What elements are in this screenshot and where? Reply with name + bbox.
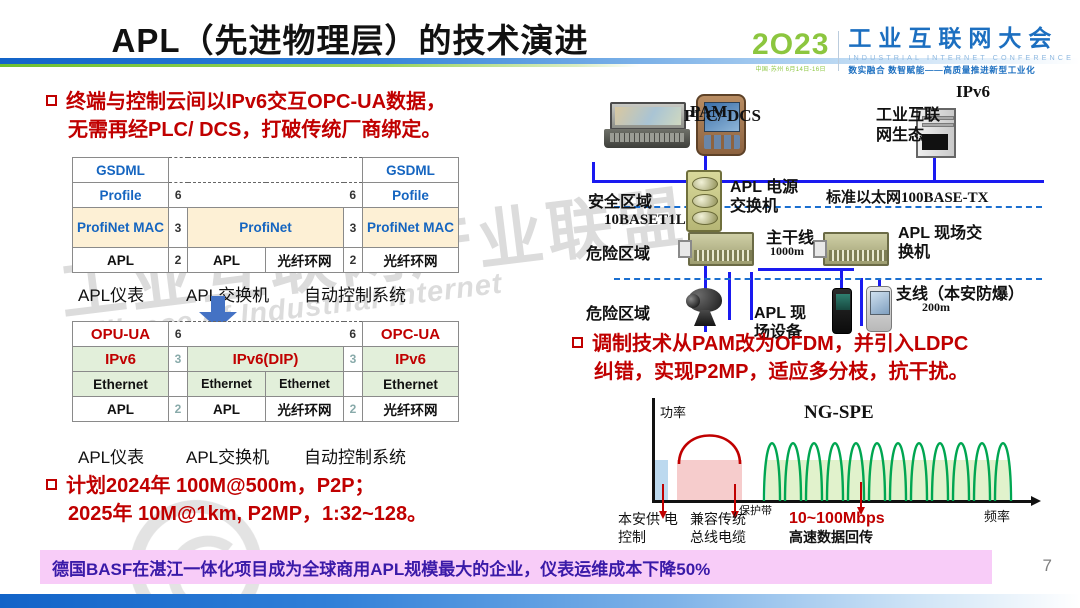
bullet-3-text-1: 计划2024年 100M@500m，P2P； (66, 475, 375, 497)
cell-right-num: 2 (344, 248, 363, 273)
chart-title: NG-SPE (804, 402, 874, 424)
logo-name-cn: 工业互联网大会 (848, 26, 1074, 50)
label-plc-dcs: PLC/ DCS (684, 106, 761, 125)
logo-year-sub: 中国·苏州 6月14日-16日 (756, 64, 826, 73)
logo-tagline: 数实融合 数智赋能——高质量推进新型工业化 (848, 64, 1074, 76)
ethernet-bus-line (592, 180, 1044, 183)
bullet-3-line-1: 计划2024年 100M@500m，P2P； (46, 472, 427, 500)
cell-left-num (169, 158, 188, 183)
page-title: APL（先进物理层）的技术演进 (0, 14, 700, 62)
cell-right-num (344, 372, 363, 397)
stack-bottom-captions: APL仪表APL交换机自动控制系统 (78, 443, 406, 468)
cell-right: GSDML (363, 158, 459, 183)
logo-name-block: 工业互联网大会 INDUSTRIAL INTERNET CONFERENCE 数… (848, 26, 1074, 75)
cell-right-num: 6 (344, 183, 363, 208)
cell-mid-b: Ethernet (266, 372, 344, 397)
spur-line-4 (860, 278, 863, 326)
annotation-arrow-1 (662, 484, 664, 512)
chart-ylabel: 功率 (660, 402, 686, 421)
plc-dcs-laptop-icon (604, 102, 690, 148)
cell-left-num: 3 (169, 208, 188, 248)
caption-apl-meter: APL仪表 (78, 443, 186, 468)
bullet-2-line-2: 纠错，实现P2MP，适应多分枝，抗干扰。 (572, 358, 968, 386)
cell-right: 光纤环网 (363, 248, 459, 273)
cell-left: Profile (73, 183, 169, 208)
table-row: APL 2 APL 光纤环网 2 光纤环网 (73, 248, 459, 273)
page-number: 7 (1043, 556, 1052, 576)
table-row: IPv6 3 IPv6(DIP) 3 IPv6 (73, 347, 459, 372)
bullet-3: 计划2024年 100M@500m，P2P； 2025年 10M@1km, P2… (46, 472, 427, 528)
label-apl-field-switch: APL 现场交换机 (898, 224, 990, 262)
table-row: GSDML GSDML (73, 158, 459, 183)
bullet-3-line-2: 2025年 10M@1km, P2MP，1:32~128。 (46, 500, 427, 528)
table-row: ProfiNet MAC 3 ProfiNet 3 ProfiNet MAC (73, 208, 459, 248)
annotation-rate-value: 10~100Mbps (789, 510, 885, 527)
chart-xlabel: 频率 (984, 506, 1010, 525)
label-hazard-zone-2: 危险区域 (586, 300, 650, 324)
logo-divider (838, 31, 839, 71)
cell-mid-a: APL (188, 248, 266, 273)
bullet-square-icon (46, 95, 57, 106)
conference-logo: 2O23 中国·苏州 6月14日-16日 工业互联网大会 INDUSTRIAL … (752, 24, 1074, 78)
highlight-banner: 德国BASF在湛江一体化项目成为全球商用APL规模最大的企业，仪表运维成本下降5… (40, 550, 992, 584)
cell-left-num: 6 (169, 183, 188, 208)
bullet-1-line-1: 终端与控制云间以IPv6交互OPC-UA数据， (46, 88, 446, 116)
cell-mid: ProfiNet (188, 208, 344, 248)
label-spur: 支线（本安防爆） (896, 280, 1024, 304)
cell-left: GSDML (73, 158, 169, 183)
label-ecosystem: 工业互联 网生态 (876, 106, 960, 146)
handheld-device-icon (832, 288, 852, 334)
annotation-text: 本安供 电控制 (618, 510, 680, 546)
label-hazard-zone-1: 危险区域 (586, 240, 650, 264)
annotation-arrow-3 (860, 482, 862, 508)
label-10baset1l: 10BASET1L (604, 212, 686, 229)
cell-right: ProfiNet MAC (363, 208, 459, 248)
label-ethernet-std: 标准以太网100BASE-TX (826, 186, 989, 207)
label-ipv6: IPv6 (956, 82, 990, 102)
cell-right: Ethernet (363, 372, 459, 397)
bullet-2: 调制技术从PAM改为OFDM，并引入LDPC 纠错，实现P2MP，适应多分枝，抗… (572, 330, 968, 386)
bullet-1: 终端与控制云间以IPv6交互OPC-UA数据， 无需再经PLC/ DCS，打破传… (46, 88, 446, 144)
cell-right-num (344, 158, 363, 183)
cell-left: Ethernet (73, 372, 169, 397)
apl-power-switch-icon (686, 170, 722, 232)
annotation-text: 兼容传统 总线电缆 (690, 510, 762, 546)
protocol-stack-top-table: GSDML GSDML Profile 6 6 Pofile ProfiNet … (72, 157, 459, 273)
cell-left: APL (73, 397, 169, 422)
bullet-square-icon (572, 337, 583, 348)
cell-left-num (169, 372, 188, 397)
bullet-2-line-1: 调制技术从PAM改为OFDM，并引入LDPC (572, 330, 968, 358)
band-legacy-bus (677, 460, 742, 500)
cell-mid-b: 光纤环网 (266, 248, 344, 273)
table-row: APL 2 APL 光纤环网 2 光纤环网 (73, 397, 459, 422)
table-row: Profile 6 6 Pofile (73, 183, 459, 208)
cell-mid-b: 光纤环网 (266, 397, 344, 422)
caption-control-system: 自动控制系统 (304, 281, 406, 306)
pam-envelope-curve (677, 422, 742, 464)
bullet-2-text-1: 调制技术从PAM改为OFDM，并引入LDPC (592, 333, 968, 355)
cell-left-num: 2 (169, 248, 188, 273)
annotation-data-rate: 10~100Mbps 高速数据回传 (789, 510, 885, 546)
cell-mid (188, 183, 344, 208)
annotation-rate-sub: 高速数据回传 (789, 528, 885, 546)
field-camera-icon (686, 288, 728, 328)
cell-left-num: 3 (169, 347, 188, 372)
cell-right-num: 6 (344, 322, 363, 347)
cell-mid: IPv6(DIP) (188, 347, 344, 372)
caption-apl-meter: APL仪表 (78, 281, 186, 306)
cell-right: IPv6 (363, 347, 459, 372)
table-row: Ethernet Ethernet Ethernet Ethernet (73, 372, 459, 397)
cell-left-num: 6 (169, 322, 188, 347)
label-safe-zone: 安全区域 (588, 188, 652, 212)
cell-mid (188, 158, 344, 183)
cell-right-num: 2 (344, 397, 363, 422)
apl-field-switch-icon-2 (823, 232, 889, 266)
bullet-square-icon (46, 479, 57, 490)
caption-apl-switch: APL交换机 (186, 443, 304, 468)
cell-left-num: 2 (169, 397, 188, 422)
cell-left: ProfiNet MAC (73, 208, 169, 248)
spectrum-chart: 功率 频率 NG-SPE 保护带 (634, 398, 1054, 543)
cell-mid-a: Ethernet (188, 372, 266, 397)
cell-mid-a: APL (188, 397, 266, 422)
logo-year: 2O23 (752, 30, 829, 60)
highlight-banner-text: 德国BASF在湛江一体化项目成为全球商用APL规模最大的企业，仪表运维成本下降5… (52, 555, 710, 580)
footer-bar (0, 594, 1080, 608)
cell-left: OPU-UA (73, 322, 169, 347)
label-trunk-length: 1000m (770, 244, 804, 259)
stack-top-captions: APL仪表APL交换机自动控制系统 (78, 281, 406, 306)
cell-left: APL (73, 248, 169, 273)
apl-field-switch-icon-1 (688, 232, 754, 266)
logo-name-en: INDUSTRIAL INTERNET CONFERENCE (848, 53, 1074, 62)
cell-right-num: 3 (344, 208, 363, 248)
protocol-stack-top: GSDML GSDML Profile 6 6 Pofile ProfiNet … (72, 157, 459, 273)
cell-right: Pofile (363, 183, 459, 208)
label-spur-length: 200m (922, 300, 950, 315)
cell-mid (188, 322, 344, 347)
bullet-1-text-1: 终端与控制云间以IPv6交互OPC-UA数据， (66, 91, 446, 113)
cell-right: OPC-UA (363, 322, 459, 347)
drop-line-plc (592, 162, 595, 182)
protocol-stack-bottom-table: OPU-UA 6 6 OPC-UA IPv6 3 IPv6(DIP) 3 IPv… (72, 321, 459, 422)
annotation-legacy-bus: 兼容传统 总线电缆 (690, 510, 762, 546)
pda-device-icon (866, 286, 892, 332)
cell-right-num: 3 (344, 347, 363, 372)
network-diagram: PAM PLC/ DCS IPv6 工业互联 网生态 安全区域 标准以太网100… (578, 82, 1078, 322)
cell-left: IPv6 (73, 347, 169, 372)
protocol-stack-bottom: OPU-UA 6 6 OPC-UA IPv6 3 IPv6(DIP) 3 IPv… (72, 321, 459, 422)
caption-control-system: 自动控制系统 (304, 443, 406, 468)
cell-right: 光纤环网 (363, 397, 459, 422)
bullet-1-line-2: 无需再经PLC/ DCS，打破传统厂商绑定。 (46, 116, 446, 144)
logo-year-block: 2O23 中国·苏州 6月14日-16日 (752, 30, 838, 73)
annotation-arrow-2 (734, 484, 736, 512)
annotation-intrinsic-safe: 本安供 电控制 (618, 510, 680, 546)
slide-root: 工业互联网产业联盟 Alliance of Industrial Interne… (0, 0, 1080, 608)
ofdm-subcarriers (762, 418, 1014, 501)
table-row: OPU-UA 6 6 OPC-UA (73, 322, 459, 347)
label-apl-power-switch: APL 电源交换机 (730, 178, 814, 216)
